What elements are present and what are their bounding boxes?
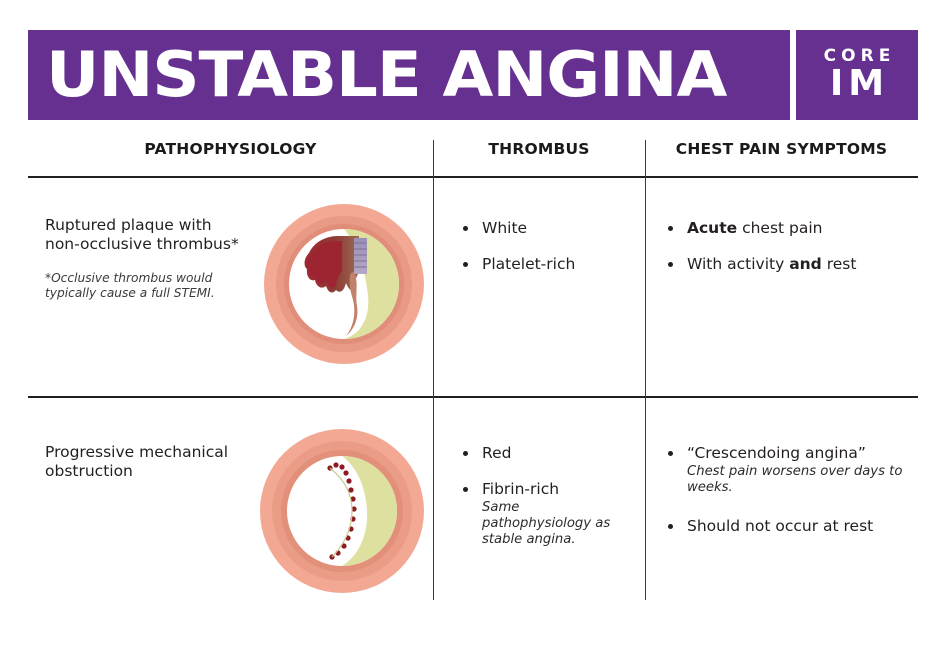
- column-headers: PATHOPHYSIOLOGY THROMBUS CHEST PAIN SYMP…: [28, 140, 918, 176]
- page-title: UNSTABLE ANGINA: [28, 44, 726, 106]
- thrombus-bullet-list-2: Red Fibrin-rich Same pathophysiology as …: [460, 443, 632, 548]
- list-item: Should not occur at rest: [665, 516, 920, 536]
- column-divider-left: [433, 140, 434, 600]
- column-header-chest-pain-symptoms: CHEST PAIN SYMPTOMS: [645, 140, 918, 158]
- list-item: Fibrin-rich Same pathophysiology as stab…: [460, 479, 632, 548]
- list-item: “Crescendoing angina” Chest pain worsens…: [665, 443, 920, 496]
- header: UNSTABLE ANGINA CORE IM: [28, 30, 918, 120]
- thrombus-bullet-list-1: White Platelet-rich: [460, 218, 625, 274]
- column-header-pathophysiology: PATHOPHYSIOLOGY: [28, 140, 433, 158]
- column-divider-right: [645, 140, 646, 600]
- bullet-bold-lead: Acute: [687, 219, 737, 237]
- row-1-pathophysiology-note: *Occlusive thrombus would typically caus…: [45, 271, 240, 301]
- row-1-thrombus-list: White Platelet-rich: [460, 218, 625, 290]
- list-item: Red: [460, 443, 632, 463]
- bullet-text: Fibrin-rich: [482, 480, 559, 498]
- row-1-pathophysiology-title: Ruptured plaque with non-occlusive throm…: [45, 216, 240, 254]
- artery-cross-section-svg-1: [258, 198, 430, 370]
- artery-cross-section-svg-2: [254, 423, 430, 599]
- list-item: Acute chest pain: [665, 218, 915, 238]
- bullet-bold-mid: and: [789, 255, 822, 273]
- header-divider-line: [28, 176, 918, 178]
- row-2-pathophysiology-title: Progressive mechanical obstruction: [45, 443, 255, 481]
- list-item: With activity and rest: [665, 254, 915, 274]
- bullet-text: chest pain: [737, 219, 822, 237]
- title-bar: UNSTABLE ANGINA: [28, 30, 790, 120]
- bullet-text: “Crescendoing angina”: [687, 444, 866, 462]
- chest-pain-bullet-list-2: “Crescendoing angina” Chest pain worsens…: [665, 443, 920, 536]
- bullet-subtext: Chest pain worsens over days to weeks.: [687, 464, 920, 496]
- chest-pain-bullet-list-1: Acute chest pain With activity and rest: [665, 218, 915, 274]
- row-divider-line: [28, 396, 918, 398]
- list-item: White: [460, 218, 625, 238]
- row-2-thrombus-list: Red Fibrin-rich Same pathophysiology as …: [460, 443, 632, 564]
- list-item: Platelet-rich: [460, 254, 625, 274]
- row-1-chest-pain-list: Acute chest pain With activity and rest: [665, 218, 915, 290]
- infographic-page: UNSTABLE ANGINA CORE IM PATHOPHYSIOLOGY …: [0, 0, 945, 646]
- artery-diagram-progressive-obstruction: [254, 423, 430, 604]
- row-2-pathophysiology-text: Progressive mechanical obstruction: [45, 443, 255, 481]
- row-1-pathophysiology-text: Ruptured plaque with non-occlusive throm…: [45, 216, 240, 301]
- logo-text-im: IM: [825, 65, 889, 103]
- core-im-logo: CORE IM: [796, 30, 918, 120]
- artery-diagram-ruptured-plaque: [258, 198, 430, 375]
- column-header-thrombus: THROMBUS: [433, 140, 645, 158]
- bullet-text-after: rest: [822, 255, 857, 273]
- row-2-chest-pain-list: “Crescendoing angina” Chest pain worsens…: [665, 443, 920, 552]
- bullet-subtext: Same pathophysiology as stable angina.: [482, 500, 632, 548]
- bullet-text-before: With activity: [687, 255, 789, 273]
